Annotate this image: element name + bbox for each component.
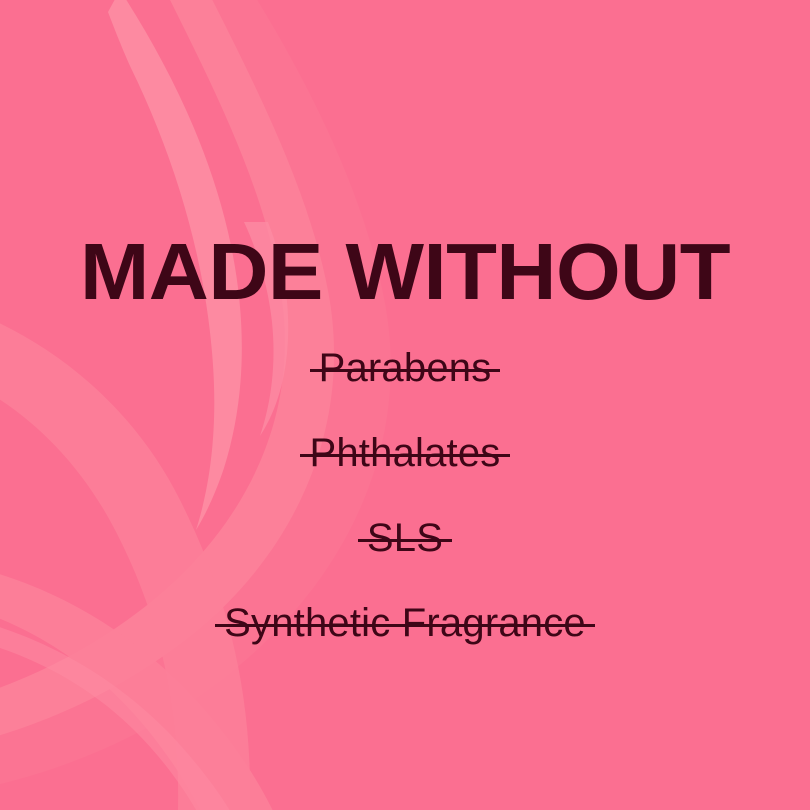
excluded-ingredient-label: Parabens (310, 339, 501, 397)
content-layer: MADE WITHOUT Parabens Phthalates SLS Syn… (0, 0, 810, 810)
list-item: Phthalates (0, 410, 810, 495)
page-title: MADE WITHOUT (0, 232, 810, 312)
excluded-ingredient-label: SLS (358, 509, 452, 567)
made-without-card: MADE WITHOUT Parabens Phthalates SLS Syn… (0, 0, 810, 810)
list-item: Synthetic Fragrance (0, 580, 810, 665)
excluded-ingredients-list: Parabens Phthalates SLS Synthetic Fragra… (0, 325, 810, 665)
excluded-ingredient-label: Phthalates (300, 424, 509, 482)
excluded-ingredient-label: Synthetic Fragrance (215, 594, 595, 652)
list-item: SLS (0, 495, 810, 580)
list-item: Parabens (0, 325, 810, 410)
